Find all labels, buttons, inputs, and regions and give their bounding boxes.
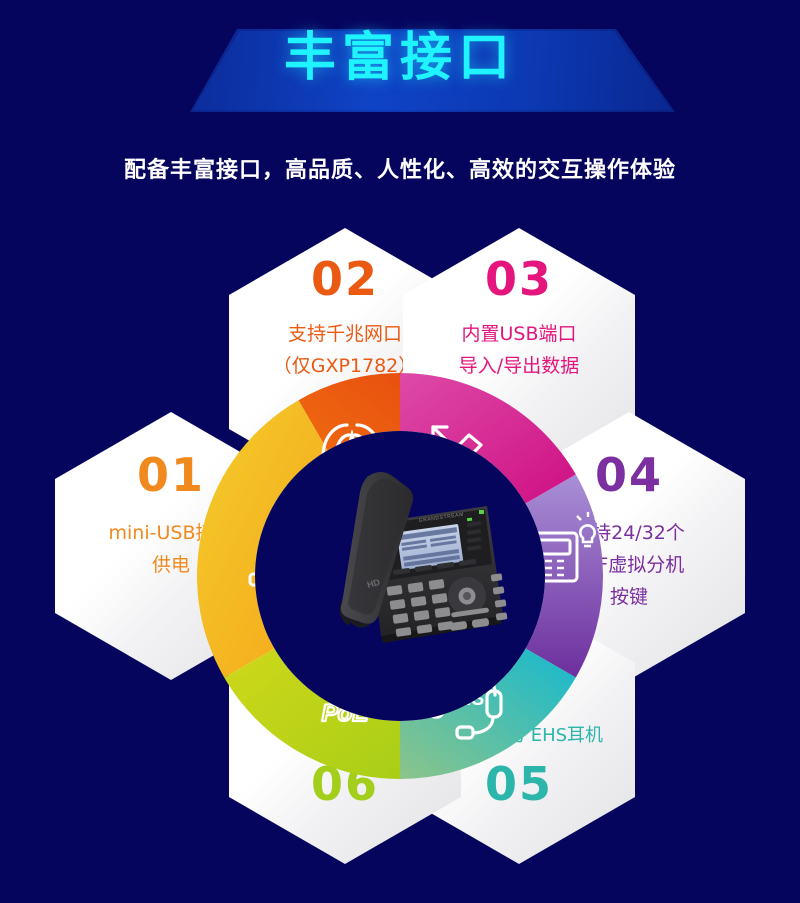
page-title: 丰富接口 — [0, 32, 800, 84]
page-subtitle: 配备丰富接口，高品质、人性化、高效的交互操作体验 — [0, 152, 800, 184]
hexagon-number-03: 03 — [403, 256, 635, 302]
hexagon-line-1: 内置USB端口 — [403, 318, 635, 350]
poster-stage: 丰富接口 配备丰富接口，高品质、人性化、高效的交互操作体验 01 mini-US… — [0, 0, 800, 903]
grandstream-ip-phone-image: GRANDSTREAM — [315, 440, 515, 650]
